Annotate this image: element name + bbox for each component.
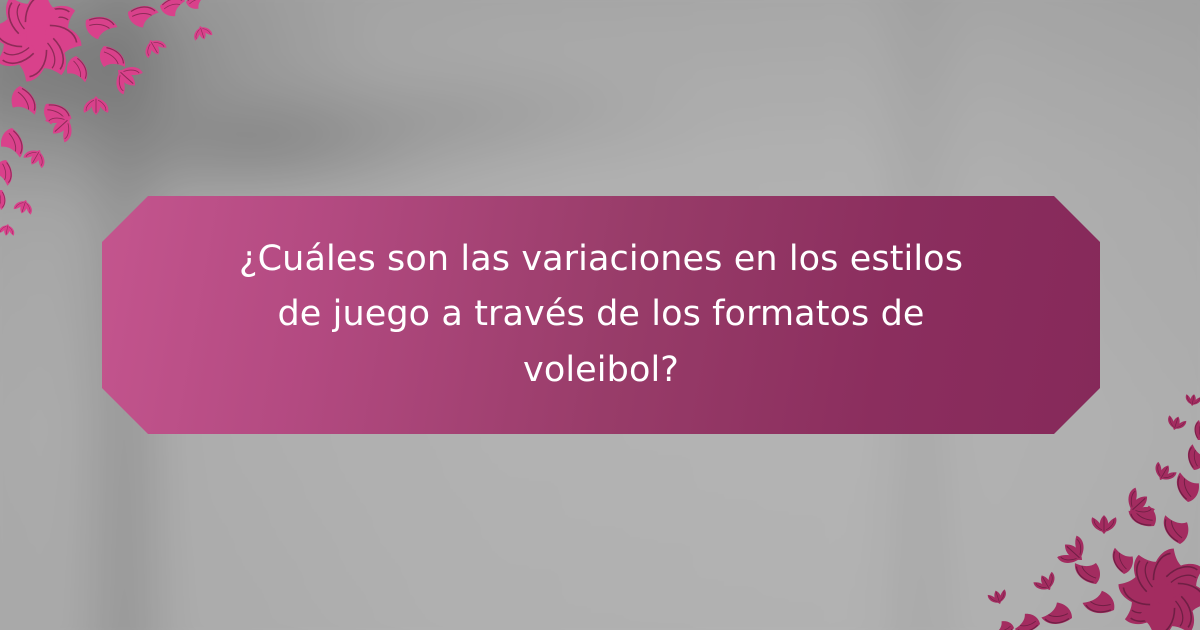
headline-banner: ¿Cuáles son las variaciones en los estil… bbox=[102, 196, 1100, 434]
social-card: ¿Cuáles son las variaciones en los estil… bbox=[0, 0, 1200, 630]
page-title: ¿Cuáles son las variaciones en los estil… bbox=[216, 232, 986, 398]
